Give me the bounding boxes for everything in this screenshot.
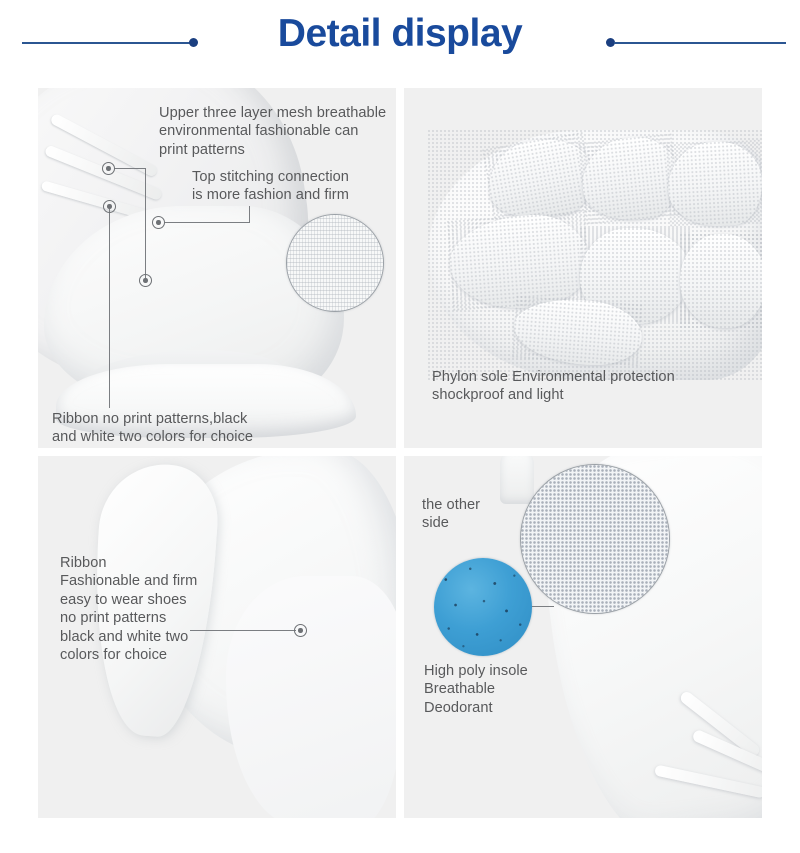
leader-line xyxy=(114,168,146,169)
panel-phylon-sole: Phylon sole Environmental protection sho… xyxy=(404,88,762,448)
top-stitching-note: Top stitching connection is more fashion… xyxy=(192,168,392,205)
callout-marker xyxy=(102,162,115,175)
tread-block xyxy=(512,296,644,369)
ribbon-note: Ribbon no print patterns,black and white… xyxy=(52,410,328,447)
mesh-weave-magnifier xyxy=(520,464,670,614)
upper-mesh-note: Upper three layer mesh breathable enviro… xyxy=(159,104,393,159)
header-rule-right xyxy=(606,38,786,47)
leader-line xyxy=(145,168,146,280)
callout-marker xyxy=(294,624,307,637)
leader-line xyxy=(190,630,296,631)
high-poly-insole-swatch xyxy=(434,558,532,656)
tread-block xyxy=(666,140,762,229)
callout-marker xyxy=(103,200,116,213)
header-rule-right-line xyxy=(614,42,786,44)
leader-line xyxy=(109,206,110,380)
callout-marker xyxy=(139,274,152,287)
detail-panel-grid: Upper three layer mesh breathable enviro… xyxy=(38,88,762,818)
leader-line xyxy=(109,380,110,408)
leader-line xyxy=(249,206,250,223)
panel-ribbon-collar: Ribbon Fashionable and firm easy to wear… xyxy=(38,456,396,818)
panel-upper-mesh: Upper three layer mesh breathable enviro… xyxy=(38,88,396,448)
page-header: Detail display xyxy=(0,0,800,76)
stitching-texture xyxy=(287,215,383,311)
ribbon-collar-note: Ribbon Fashionable and firm easy to wear… xyxy=(60,554,240,664)
other-side-note: the other side xyxy=(422,496,518,533)
heel-counter-shape xyxy=(226,576,396,818)
leader-line xyxy=(165,222,250,223)
insole-speckle-texture xyxy=(434,558,532,656)
callout-marker xyxy=(152,216,165,229)
mesh-weave-texture xyxy=(521,465,669,613)
high-poly-insole-note: High poly insole Breathable Deodorant xyxy=(424,662,604,717)
phylon-sole-note: Phylon sole Environmental protection sho… xyxy=(432,368,756,405)
panel-insole: the other side High poly insole Breathab… xyxy=(404,456,762,818)
page-title: Detail display xyxy=(0,8,800,60)
stitching-closeup-magnifier xyxy=(286,214,384,312)
tread-block xyxy=(680,234,762,328)
